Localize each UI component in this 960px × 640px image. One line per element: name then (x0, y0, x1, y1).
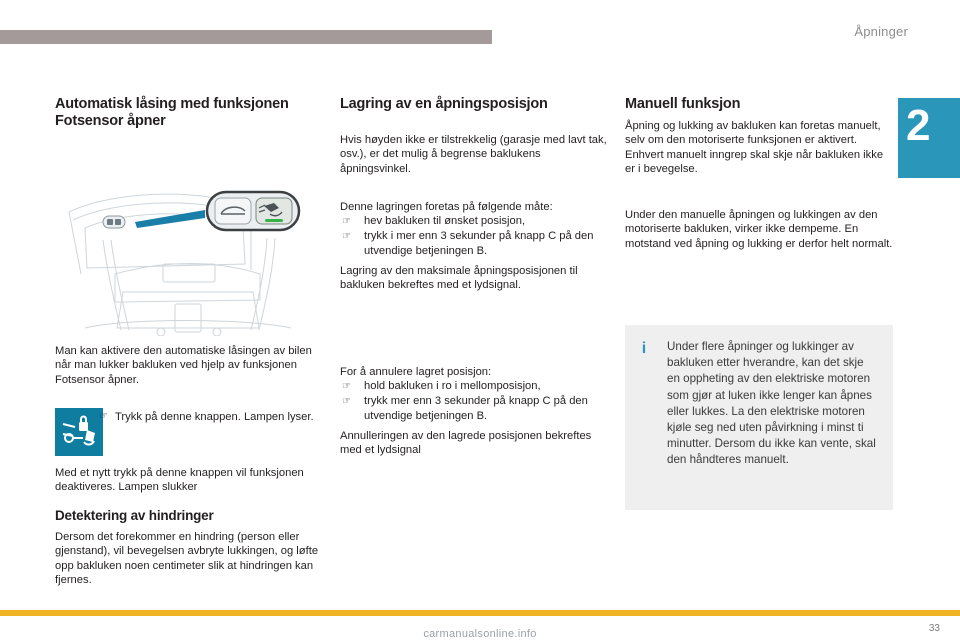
middle-bullets-2: ☞ hold bakluken i ro i mellomposisjon, ☞… (340, 379, 610, 423)
middle-bullets-1: ☞ hev bakluken til ønsket posisjon, ☞ tr… (340, 214, 610, 258)
left-paragraph-2-wrap: Med et nytt trykk på denne knappen vil f… (55, 466, 323, 505)
list-item: ☞ trykk i mer enn 3 sekunder på knapp C … (340, 229, 610, 258)
list-item: ☞ trykk mer enn 3 sekunder på knapp C på… (340, 394, 610, 423)
middle-paragraph-3: Annulleringen av den lagrede posisjonen … (340, 429, 610, 458)
middle-section-title: Lagring av en åpningsposisjon (340, 96, 610, 113)
left-subsection: Detektering av hindringer Dersom det for… (55, 508, 323, 597)
tailgate-illustration (55, 178, 320, 336)
foot-sensor-lock-pictogram-svg (55, 408, 103, 456)
right-paragraph-1: Åpning og lukking av bakluken kan foreta… (625, 119, 895, 148)
info-box-text: Under flere åpninger og lukkinger av bak… (667, 339, 879, 469)
right-paragraph-3: Under den manuelle åpningen og lukkingen… (625, 208, 895, 251)
hand-pointer-icon: ☞ (342, 215, 351, 229)
right-section-title: Manuell funksjon (625, 96, 895, 113)
left-pictogram-bullet-text: Trykk på denne knappen. Lampen lyser. (115, 410, 320, 424)
left-paragraph-2: Med et nytt trykk på denne knappen vil f… (55, 466, 323, 495)
hand-pointer-icon: ☞ (342, 395, 351, 409)
interior-switch-graphic (103, 216, 125, 228)
green-indicator-led (265, 219, 283, 222)
left-paragraph-1-wrap: Man kan aktivere den automatiske låsinge… (55, 344, 323, 397)
bullet-text: hold bakluken i ro i mellomposisjon, (364, 380, 541, 392)
left-column: Automatisk låsing med funksjonen Fotsens… (55, 96, 325, 136)
middle-lead-2: For å annulere lagret posisjon: (340, 365, 610, 379)
header-section-title: Åpninger (854, 24, 908, 39)
header-color-band (0, 30, 492, 44)
tailgate-illustration-svg (55, 178, 320, 336)
middle-paragraph-2: Lagring av den maksimale åpningsposisjon… (340, 264, 610, 293)
left-section-title: Automatisk låsing med funksjonen Fotsens… (55, 96, 325, 130)
left-paragraph-1: Man kan aktivere den automatiske låsinge… (55, 344, 323, 387)
bullet-text: hev bakluken til ønsket posisjon, (364, 215, 525, 227)
right-column: Manuell funksjon Åpning og lukking av ba… (625, 96, 895, 261)
left-pictogram-bullet: ☞ Trykk på denne knappen. Lampen lyser. (115, 410, 320, 424)
bullet-text: trykk mer enn 3 sekunder på knapp C på d… (364, 395, 588, 421)
info-icon: i (639, 341, 649, 357)
foot-sensor-lock-pictogram (55, 408, 103, 456)
chapter-number: 2 (906, 104, 930, 148)
middle-lead-1: Denne lagringen foretas på følgende måte… (340, 200, 610, 214)
footer-color-band (0, 610, 960, 616)
list-item: ☞ hev bakluken til ønsket posisjon, (340, 214, 610, 228)
info-box: i Under flere åpninger og lukkinger av b… (625, 325, 893, 510)
left-subsection-title: Detektering av hindringer (55, 508, 323, 524)
middle-paragraph-1: Hvis høyden ikke er tilstrekkelig (garas… (340, 133, 610, 176)
bullet-text: trykk i mer enn 3 sekunder på knapp C på… (364, 230, 593, 256)
watermark: carmanualsonline.info (0, 628, 960, 640)
list-item: ☞ hold bakluken i ro i mellomposisjon, (340, 379, 610, 393)
hand-pointer-icon: ☞ (99, 411, 108, 422)
left-paragraph-3: Dersom det forekommer en hindring (perso… (55, 530, 323, 587)
middle-column: Lagring av en åpningsposisjon Hvis høyde… (340, 96, 610, 467)
tailgate-control-module (207, 192, 299, 230)
right-paragraph-2: Enhvert manuelt inngrep skal skje når ba… (625, 148, 895, 177)
hand-pointer-icon: ☞ (342, 380, 351, 394)
hand-pointer-icon: ☞ (342, 230, 351, 244)
